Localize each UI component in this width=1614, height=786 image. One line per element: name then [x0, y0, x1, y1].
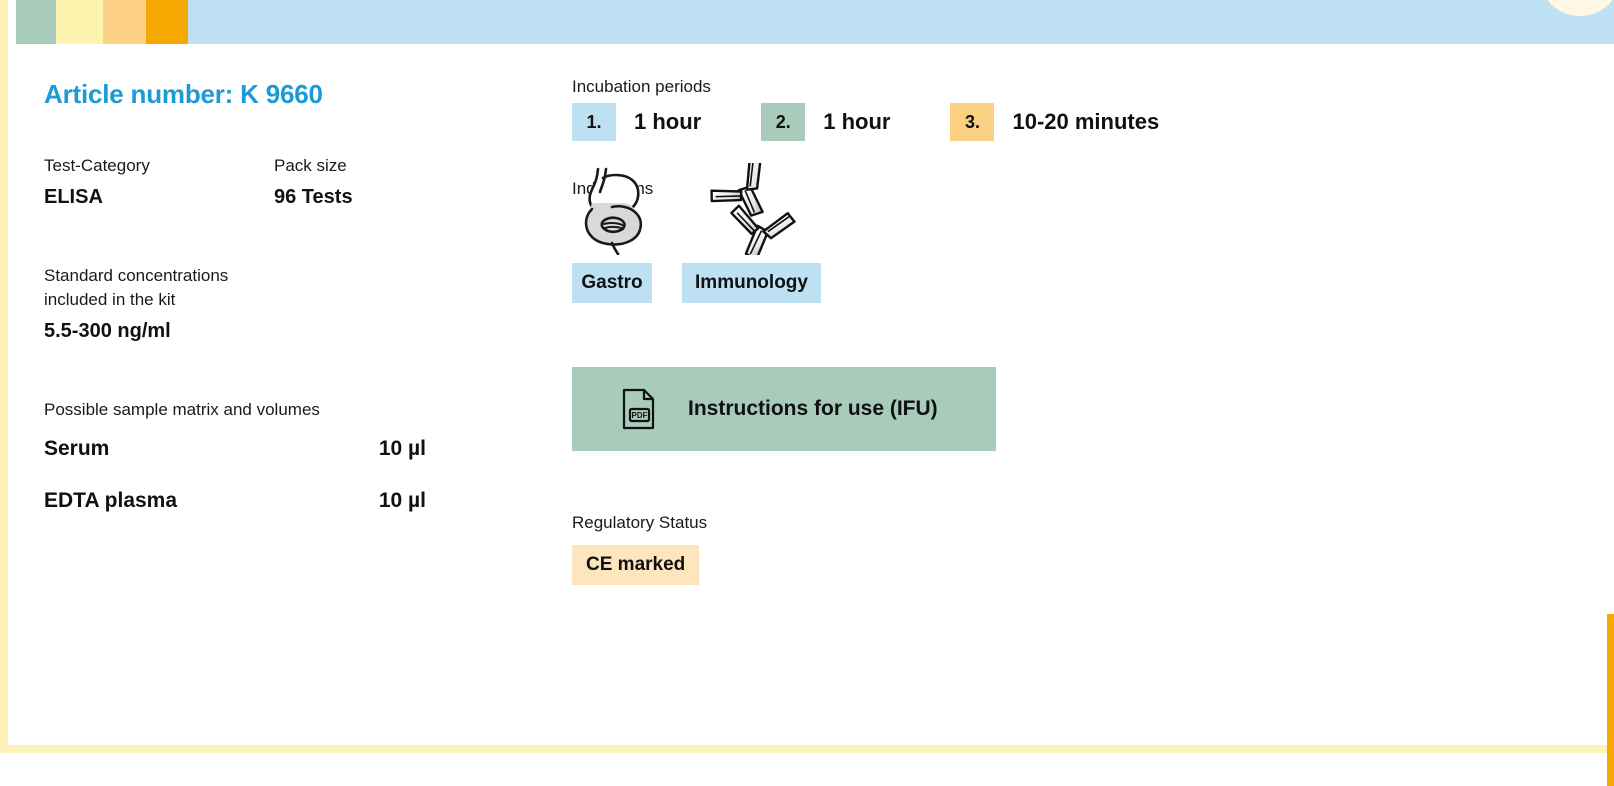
- test-category-value: ELISA: [44, 183, 274, 212]
- test-category-label: Test-Category: [44, 154, 274, 179]
- matrix-volume: 10 µl: [379, 489, 426, 513]
- matrix-name: EDTA plasma: [44, 489, 177, 513]
- ce-marked-badge: CE marked: [572, 545, 699, 585]
- gastro-icon-wrap: [572, 163, 658, 255]
- standard-concentrations-label-line2: included in the kit: [44, 288, 514, 313]
- assay-info-column: Incubation periods 1. 1 hour 2. 1 hour 3…: [572, 77, 1552, 585]
- standard-concentrations-label-line1: Standard concentrations: [44, 264, 514, 289]
- band-segment-light-orange: [103, 0, 146, 44]
- pack-size-label: Pack size: [274, 154, 504, 179]
- incubation-period-3: 3. 10-20 minutes: [950, 103, 1159, 141]
- pack-size-block: Pack size 96 Tests: [274, 154, 504, 212]
- sample-matrix-block: Possible sample matrix and volumes Serum…: [44, 398, 514, 513]
- incubation-duration: 1 hour: [823, 109, 890, 135]
- matrix-row: Serum 10 µl: [44, 437, 426, 461]
- article-number-heading: Article number: K 9660: [44, 79, 514, 110]
- sample-matrix-label: Possible sample matrix and volumes: [44, 398, 514, 423]
- page-scrollbar-track[interactable]: [1607, 44, 1614, 745]
- incubation-step-number: 3.: [950, 103, 994, 141]
- pack-size-value: 96 Tests: [274, 183, 504, 212]
- incubation-step-number: 2.: [761, 103, 805, 141]
- matrix-row: EDTA plasma 10 µl: [44, 489, 426, 513]
- top-color-band: [16, 0, 1614, 44]
- product-details-column: Article number: K 9660 Test-Category ELI…: [44, 79, 514, 541]
- content-area: Article number: K 9660 Test-Category ELI…: [16, 44, 1614, 745]
- incubation-duration: 10-20 minutes: [1012, 109, 1159, 135]
- incubation-block: Incubation periods 1. 1 hour 2. 1 hour 3…: [572, 77, 1552, 141]
- svg-text:PDF: PDF: [632, 411, 648, 420]
- indications-block: Indications: [572, 179, 1552, 303]
- instructions-for-use-button[interactable]: PDF Instructions for use (IFU): [572, 367, 996, 451]
- indication-badge-gastro[interactable]: Gastro: [572, 263, 652, 303]
- indication-badge-immunology[interactable]: Immunology: [682, 263, 821, 303]
- page-frame: Article number: K 9660 Test-Category ELI…: [0, 0, 1614, 753]
- band-segment-green: [16, 0, 56, 44]
- antibody-icon-wrap: [682, 163, 828, 255]
- incubation-period-2: 2. 1 hour: [761, 103, 890, 141]
- indication-item-gastro[interactable]: Gastro: [572, 163, 658, 303]
- antibody-icon: [682, 163, 828, 255]
- matrix-volume: 10 µl: [379, 437, 426, 461]
- standard-concentrations-block: Standard concentrations included in the …: [44, 264, 514, 346]
- indications-list: Gastro: [572, 205, 1552, 303]
- spec-grid: Test-Category ELISA Pack size 96 Tests: [44, 154, 514, 212]
- indication-item-immunology[interactable]: Immunology: [682, 163, 828, 303]
- incubation-periods-row: 1. 1 hour 2. 1 hour 3. 10-20 minutes: [572, 103, 1552, 141]
- test-category-block: Test-Category ELISA: [44, 154, 274, 212]
- stomach-intestine-icon: [572, 163, 658, 255]
- regulatory-status-block: Regulatory Status CE marked: [572, 513, 1552, 585]
- band-segment-blue: [188, 0, 1614, 44]
- standard-concentrations-value: 5.5-300 ng/ml: [44, 317, 514, 346]
- regulatory-status-label: Regulatory Status: [572, 513, 1552, 533]
- band-segment-cream: [56, 0, 103, 44]
- incubation-period-1: 1. 1 hour: [572, 103, 701, 141]
- matrix-name: Serum: [44, 437, 109, 461]
- pdf-document-icon: PDF: [620, 387, 658, 431]
- band-segment-orange: [146, 0, 188, 44]
- incubation-step-number: 1.: [572, 103, 616, 141]
- ifu-button-label: Instructions for use (IFU): [688, 397, 938, 421]
- incubation-periods-label: Incubation periods: [572, 77, 1552, 97]
- incubation-duration: 1 hour: [634, 109, 701, 135]
- page-scrollbar-thumb[interactable]: [1607, 614, 1614, 786]
